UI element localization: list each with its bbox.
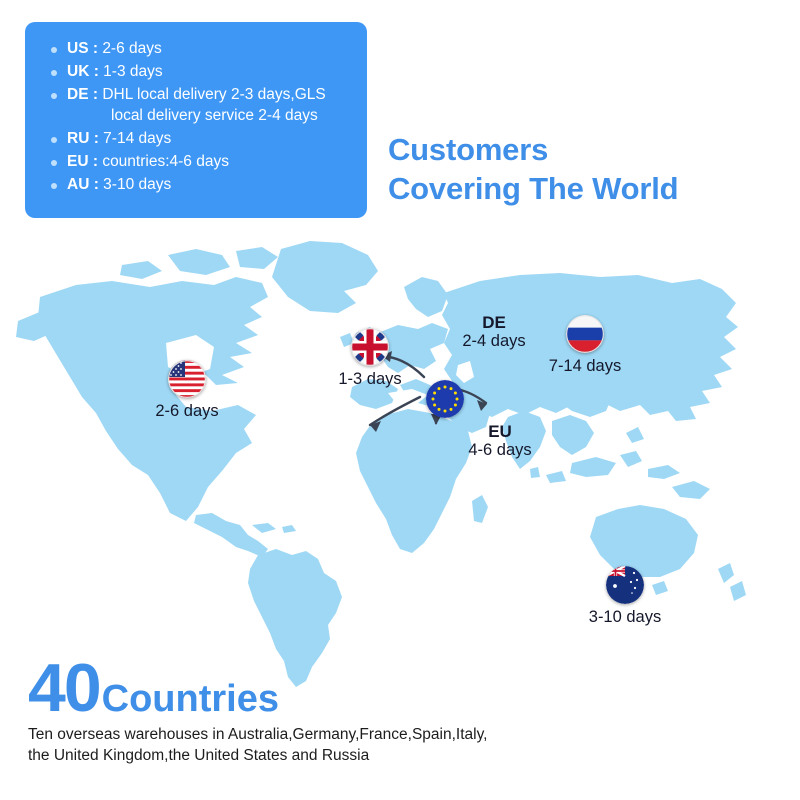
marker-eu[interactable]: EU 4-6 days (426, 380, 464, 418)
delivery-days: 3-10 days (573, 608, 677, 626)
marker-ru[interactable]: 7-14 days (566, 315, 604, 353)
au-flag-icon (606, 566, 644, 604)
delivery-time: 1-3 days (103, 63, 162, 80)
page-title-line1: Customers (388, 130, 678, 169)
list-item: DE : DHL local delivery 2-3 days,GLS (39, 84, 353, 106)
marker-label-de: DE 2-4 days (442, 313, 546, 351)
delivery-time: DHL local delivery 2-3 days,GLS (102, 86, 325, 103)
bullet-icon (51, 137, 57, 143)
uk-flag-icon (351, 328, 389, 366)
warehouse-note-line1: Ten overseas warehouses in Australia,Ger… (28, 724, 788, 745)
page-title: Customers Covering The World (388, 130, 678, 208)
marker-label-au: 3-10 days (573, 608, 677, 626)
page-title-line2: Covering The World (388, 169, 678, 208)
delivery-days: 7-14 days (537, 357, 633, 375)
list-item: EU : countries:4-6 days (39, 151, 353, 173)
country-code: RU : (67, 130, 103, 147)
marker-label-us: 2-6 days (139, 402, 235, 420)
ru-flag-icon (566, 315, 604, 353)
delivery-time: 2-6 days (102, 40, 161, 57)
list-item: US : 2-6 days (39, 38, 353, 60)
marker-uk[interactable]: 1-3 days (351, 328, 389, 366)
country-code: EU : (67, 153, 102, 170)
shipping-info-box: US : 2-6 days UK : 1-3 days DE : DHL loc… (25, 22, 367, 218)
country-code: AU : (67, 176, 103, 193)
world-map: 2-6 days (0, 225, 800, 695)
country-count: 40 Countries (28, 660, 788, 718)
delivery-days: 1-3 days (317, 370, 423, 388)
delivery-days: 2-6 days (139, 402, 235, 420)
warehouse-note: Ten overseas warehouses in Australia,Ger… (28, 724, 788, 767)
infographic-root: US : 2-6 days UK : 1-3 days DE : DHL loc… (0, 0, 800, 800)
eu-flag-icon (426, 380, 464, 418)
marker-au[interactable]: 3-10 days (606, 566, 644, 604)
country-code: EU (452, 422, 548, 441)
country-code: DE (442, 313, 546, 332)
bullet-icon (51, 93, 57, 99)
list-item: AU : 3-10 days (39, 174, 353, 196)
delivery-days: 4-6 days (452, 441, 548, 459)
marker-us[interactable]: 2-6 days (168, 360, 206, 398)
us-flag-icon (168, 360, 206, 398)
country-count-number: 40 (28, 660, 100, 718)
shipping-info-list: US : 2-6 days UK : 1-3 days DE : DHL loc… (39, 38, 353, 196)
country-count-label: Countries (102, 681, 279, 717)
delivery-time: 3-10 days (103, 176, 171, 193)
marker-label-eu: EU 4-6 days (452, 422, 548, 460)
warehouse-note-line2: the United Kingdom,the United States and… (28, 745, 788, 766)
country-code: DE : (67, 86, 102, 103)
footer-block: 40 Countries Ten overseas warehouses in … (28, 660, 788, 767)
world-map-svg (0, 225, 800, 695)
country-code: UK : (67, 63, 103, 80)
delivery-time-continued: local delivery service 2-4 days (39, 105, 353, 127)
bullet-icon (51, 47, 57, 53)
list-item: RU : 7-14 days (39, 128, 353, 150)
marker-label-ru: 7-14 days (537, 357, 633, 375)
marker-label-uk: 1-3 days (317, 370, 423, 388)
list-item: UK : 1-3 days (39, 61, 353, 83)
delivery-time: countries:4-6 days (102, 153, 229, 170)
country-code: US : (67, 40, 102, 57)
bullet-icon (51, 70, 57, 76)
bullet-icon (51, 183, 57, 189)
delivery-time: 7-14 days (103, 130, 171, 147)
bullet-icon (51, 160, 57, 166)
delivery-days: 2-4 days (442, 332, 546, 350)
